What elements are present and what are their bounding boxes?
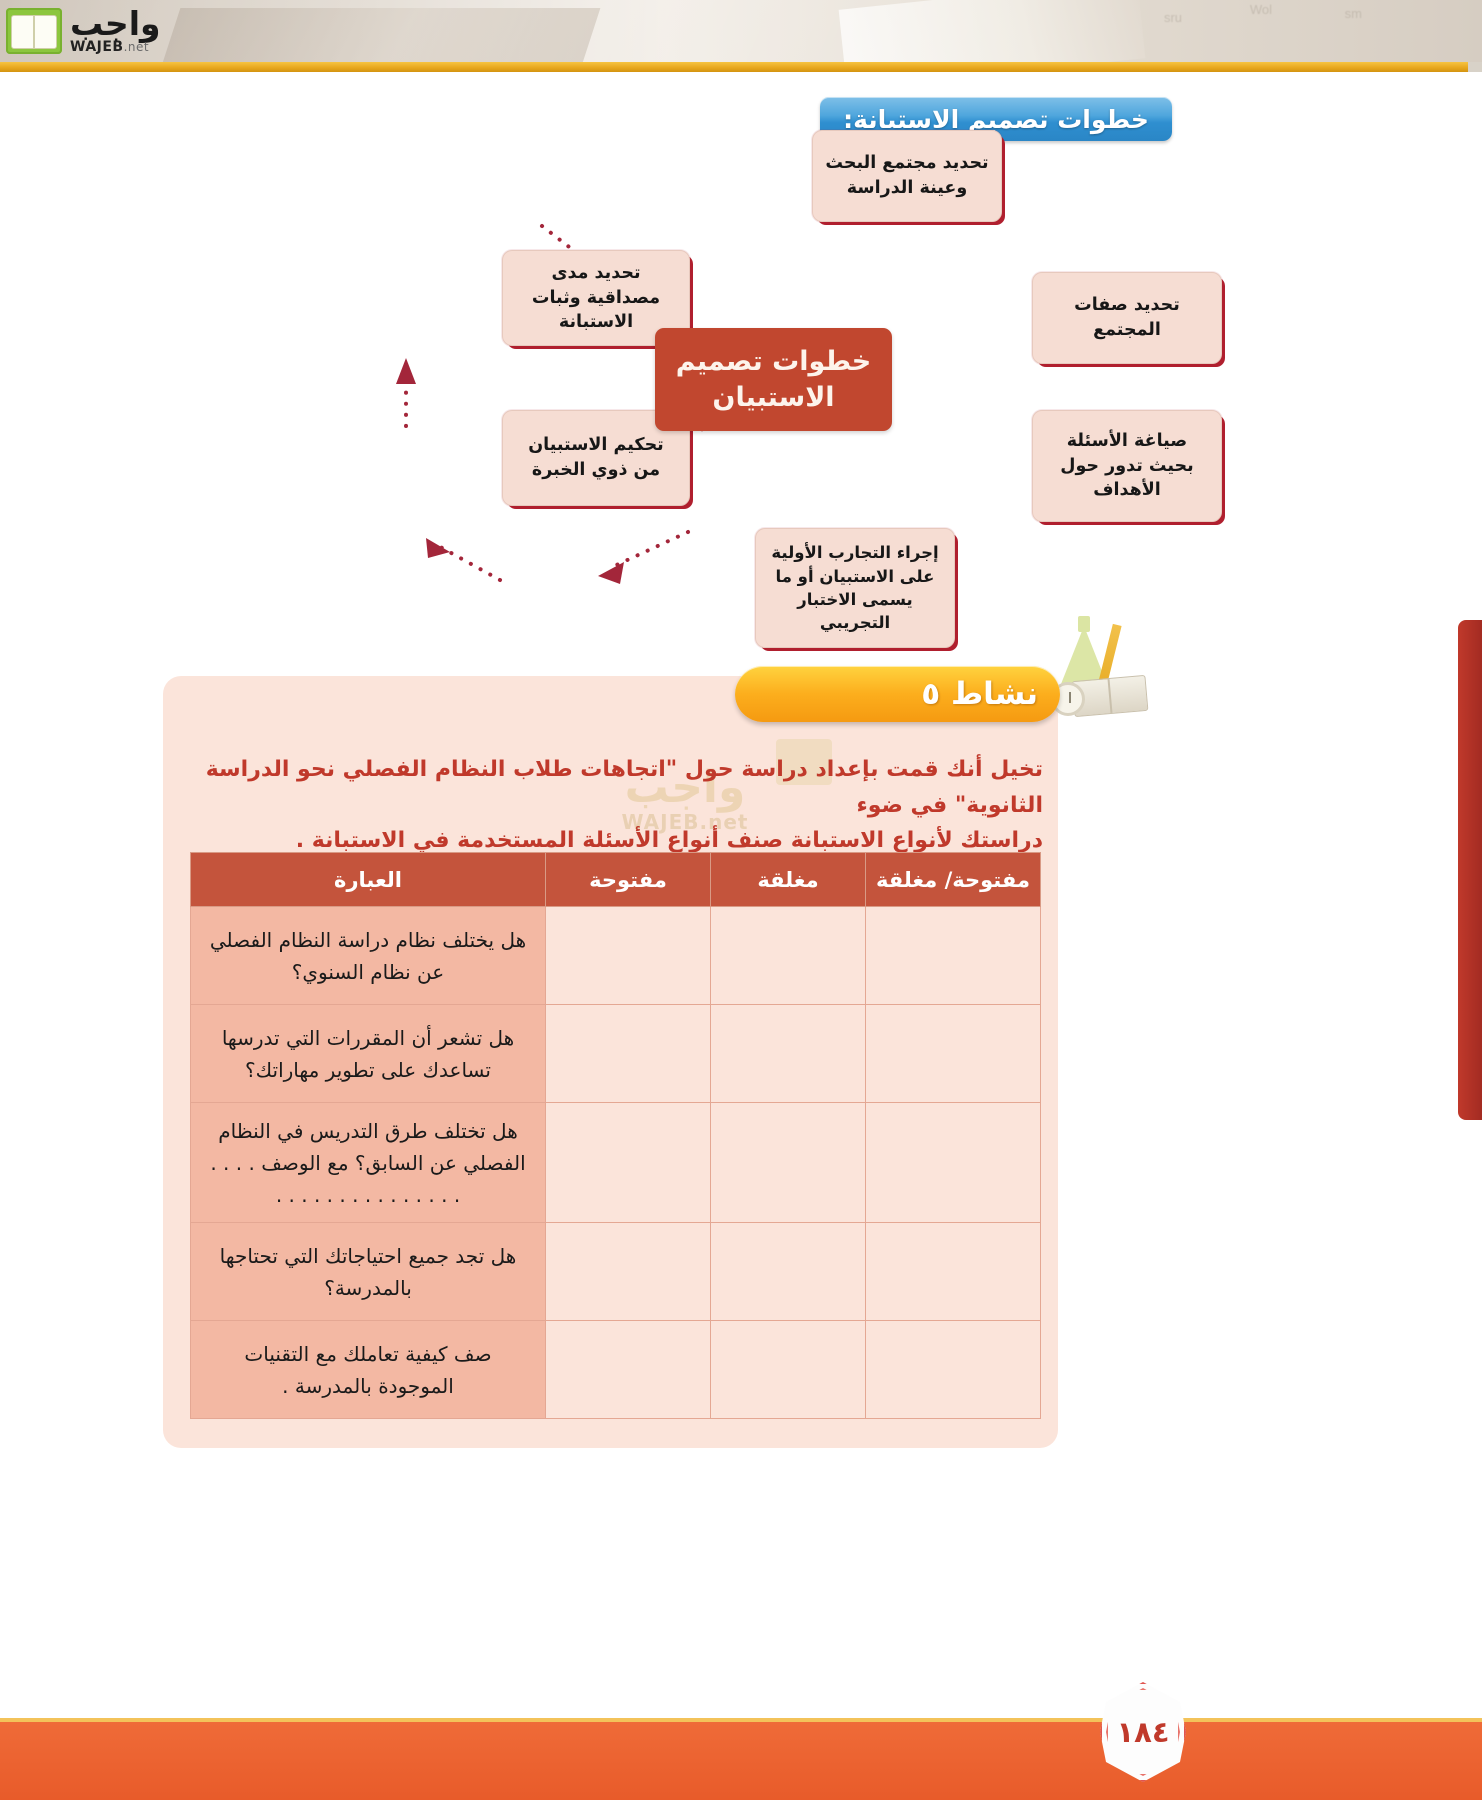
cell-statement: صف كيفية تعاملك مع التقنيات الموجودة بال…	[191, 1321, 546, 1419]
flow-node-label: تحديد صفات المجتمع	[1043, 293, 1211, 343]
cell-closed[interactable]	[711, 1223, 866, 1321]
cell-statement: هل تختلف طرق التدريس في النظام الفصلي عن…	[191, 1103, 546, 1223]
table-row: هل تشعر أن المقررات التي تدرسها تساعدك ع…	[191, 1005, 1041, 1103]
cell-closed[interactable]	[711, 1005, 866, 1103]
flow-node-right2: صياغة الأسئلة بحيث تدور حول الأهداف	[1032, 410, 1222, 522]
activity-instruction: تخيل أنك قمت بإعداد دراسة حول "اتجاهات ط…	[178, 752, 1043, 859]
cell-open[interactable]	[546, 1321, 711, 1419]
table-row: هل يختلف نظام دراسة النظام الفصلي عن نظا…	[191, 907, 1041, 1005]
cell-open[interactable]	[546, 907, 711, 1005]
flow-center-node: خطوات تصميم الاستبيان	[655, 328, 892, 431]
footer-bar	[0, 1722, 1482, 1800]
top-banner: sm Wol sru واجب WAJEB.net	[0, 0, 1482, 72]
cell-both[interactable]	[866, 1223, 1041, 1321]
table-row: هل تختلف طرق التدريس في النظام الفصلي عن…	[191, 1103, 1041, 1223]
cell-open[interactable]	[546, 1103, 711, 1223]
cell-statement: هل يختلف نظام دراسة النظام الفصلي عن نظا…	[191, 907, 546, 1005]
flow-node-label: صياغة الأسئلة بحيث تدور حول الأهداف	[1043, 429, 1211, 504]
table-row: صف كيفية تعاملك مع التقنيات الموجودة بال…	[191, 1321, 1041, 1419]
flow-node-label: تحديد مجتمع البحث وعينة الدراسة	[823, 151, 991, 201]
flowchart: تحديد مجتمع البحث وعينة الدراسة تحديد صف…	[290, 130, 1010, 660]
cell-open[interactable]	[546, 1223, 711, 1321]
site-logo[interactable]: واجب WAJEB.net	[0, 0, 161, 62]
cell-both[interactable]	[866, 1005, 1041, 1103]
cell-open[interactable]	[546, 1005, 711, 1103]
cell-statement: هل تجد جميع احتياجاتك التي تحتاجها بالمد…	[191, 1223, 546, 1321]
cell-both[interactable]	[866, 907, 1041, 1005]
flow-node-label: تحديد مدى مصداقية وثبات الاستبانة	[513, 261, 679, 336]
banner-blurtext: Wol	[1250, 2, 1272, 17]
cell-closed[interactable]	[711, 1321, 866, 1419]
table-row: هل تجد جميع احتياجاتك التي تحتاجها بالمد…	[191, 1223, 1041, 1321]
gold-divider-cap	[1468, 62, 1482, 72]
page-number: ١٨٤	[1116, 1715, 1169, 1749]
flask-and-books-icon	[1045, 616, 1165, 726]
table-header-both: مفتوحة/ مغلقة	[866, 853, 1041, 907]
table-header-row: مفتوحة/ مغلقة مغلقة مفتوحة العبارة	[191, 853, 1041, 907]
banner-blurtext: sm	[1345, 6, 1362, 21]
flow-node-top: تحديد مجتمع البحث وعينة الدراسة	[812, 130, 1002, 222]
flow-center-label: خطوات تصميم الاستبيان	[655, 344, 892, 414]
page-number-badge: ١٨٤	[1100, 1682, 1186, 1782]
table-header-open: مفتوحة	[546, 853, 711, 907]
table-header-closed: مغلقة	[711, 853, 866, 907]
gold-divider	[0, 62, 1482, 72]
activity-badge: نشاط ٥	[735, 666, 1060, 722]
cell-statement: هل تشعر أن المقررات التي تدرسها تساعدك ع…	[191, 1005, 546, 1103]
logo-arabic-text: واجب	[70, 8, 161, 39]
flow-node-label: إجراء التجارب الأولية على الاستبيان أو م…	[766, 541, 944, 635]
flow-node-right1: تحديد صفات المجتمع	[1032, 272, 1222, 364]
logo-latin-text: WAJEB.net	[70, 40, 149, 54]
flow-node-label: تحكيم الاستبيان من ذوي الخبرة	[513, 433, 679, 483]
instruction-line-1: تخيل أنك قمت بإعداد دراسة حول "اتجاهات ط…	[178, 752, 1043, 823]
flow-node-bottom: إجراء التجارب الأولية على الاستبيان أو م…	[755, 528, 955, 648]
question-type-table: مفتوحة/ مغلقة مغلقة مفتوحة العبارة هل يخ…	[190, 852, 1041, 1419]
open-book-icon	[6, 8, 62, 54]
side-tab	[1458, 620, 1482, 1120]
cell-both[interactable]	[866, 1103, 1041, 1223]
banner-blurtext: sru	[1164, 10, 1182, 25]
cell-closed[interactable]	[711, 907, 866, 1005]
arrow-right2-to-bottom	[610, 532, 688, 568]
table-header-statement: العبارة	[191, 853, 546, 907]
cell-closed[interactable]	[711, 1103, 866, 1223]
cell-both[interactable]	[866, 1321, 1041, 1419]
activity-badge-label: نشاط ٥	[824, 676, 1038, 712]
